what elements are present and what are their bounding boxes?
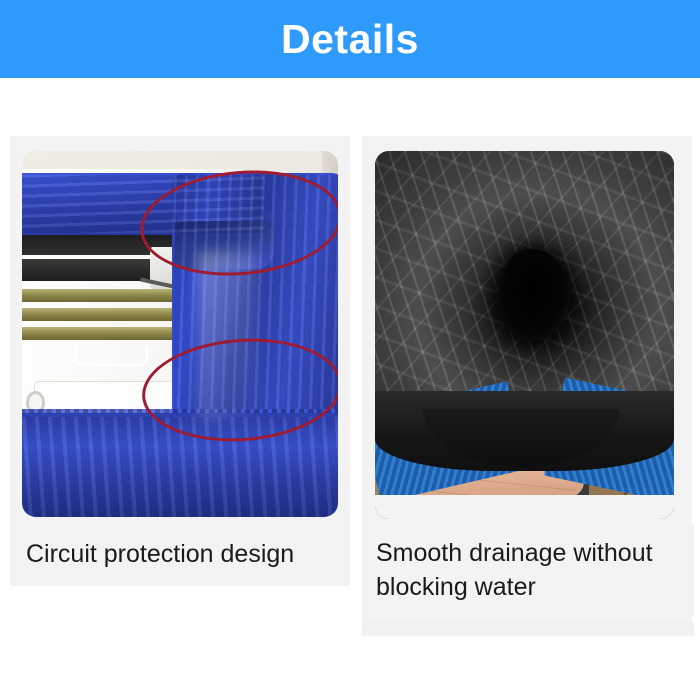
ac-handle-glyph xyxy=(74,347,148,366)
feature-card-circuit-protection xyxy=(10,136,350,586)
caption-line-2: blocking water xyxy=(376,570,694,604)
footer-strip xyxy=(362,622,694,636)
details-header-banner: Details xyxy=(0,0,700,78)
ac-louver-fin xyxy=(22,308,180,321)
photo-bottom-fill xyxy=(375,495,674,519)
caption-circuit-protection: Circuit protection design xyxy=(10,524,340,586)
ac-louver-fin xyxy=(22,289,184,302)
caption-line-1: Smooth drainage without xyxy=(376,536,694,570)
caption-smooth-drainage: Smooth drainage without blocking water xyxy=(362,524,694,616)
ac-louver-fin xyxy=(22,327,176,340)
page-title: Details xyxy=(281,19,419,60)
product-photo-smooth-drainage xyxy=(375,151,674,519)
product-photo-circuit-protection xyxy=(22,151,338,517)
